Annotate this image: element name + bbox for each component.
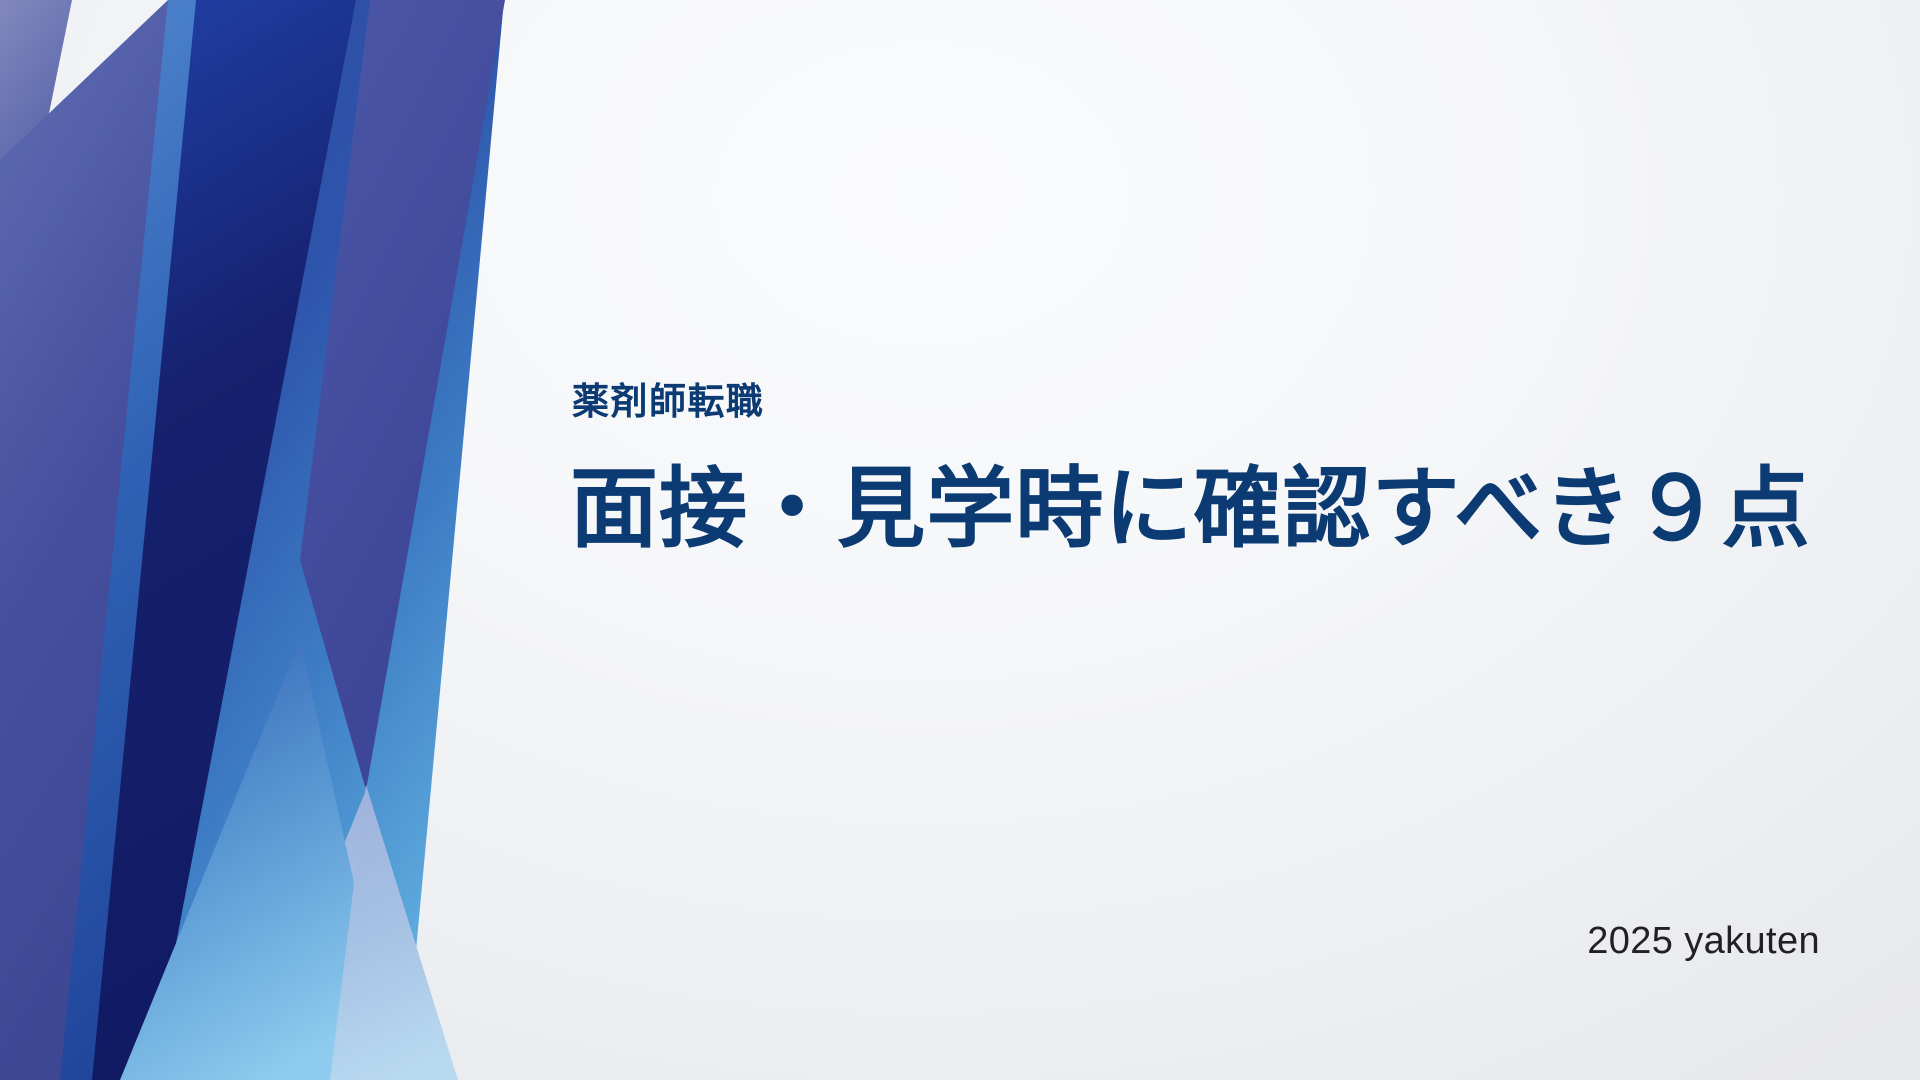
slide-canvas: 薬剤師転職 面接・見学時に確認すべき９点 2025 yakuten — [0, 0, 1920, 1080]
page-title: 面接・見学時に確認すべき９点 — [570, 461, 1830, 556]
deco-band-royal-blue — [60, 0, 404, 1080]
deco-band-deep-navy — [92, 0, 356, 1080]
deco-band-light-sky — [120, 640, 398, 1080]
deco-band-pale-blue-overlay — [330, 785, 458, 1080]
decorative-blue-bands-graphic — [0, 0, 560, 1080]
kicker-label: 薬剤師転職 — [572, 382, 1830, 423]
deco-band-indigo — [0, 0, 290, 1080]
deco-band-mid-blue — [150, 0, 504, 1080]
title-text-block: 薬剤師転職 面接・見学時に確認すべき９点 — [570, 382, 1830, 556]
deco-band-pale-blue — [248, 790, 455, 1080]
deco-band-slate-violet — [300, 0, 505, 790]
footer-credit: 2025 yakuten — [1587, 920, 1820, 963]
deco-band-periwinkle — [0, 0, 72, 355]
